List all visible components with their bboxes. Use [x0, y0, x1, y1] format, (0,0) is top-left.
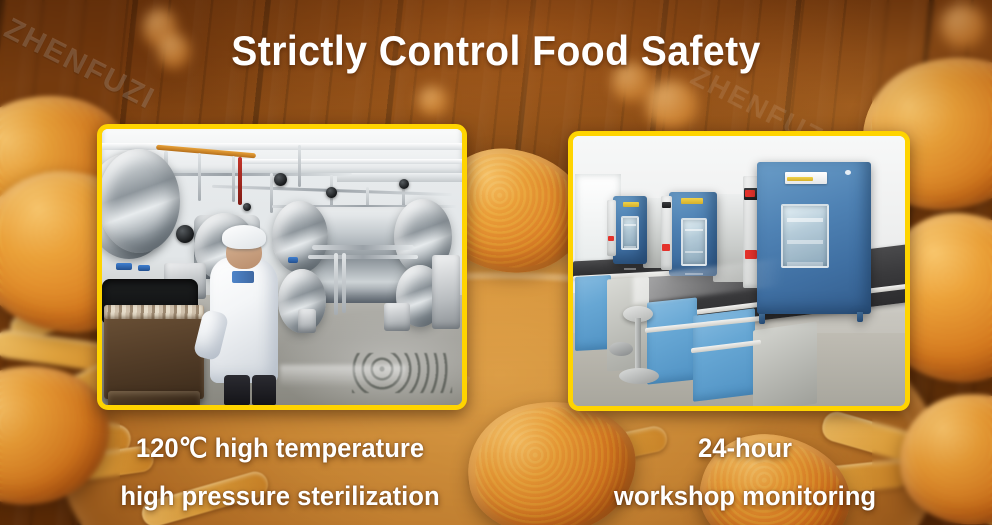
sterilization-photo-frame: [97, 124, 467, 410]
left-caption-line-1: 120℃ high temperature: [71, 424, 489, 472]
workshop-photo-frame: [568, 131, 910, 411]
right-caption-line-2: workshop monitoring: [588, 472, 902, 520]
right-caption-line-1: 24-hour: [588, 424, 902, 472]
high-temperature-sterilization-photo: [102, 129, 462, 405]
left-caption: 120℃ high temperature high pressure ster…: [71, 424, 489, 520]
food-safety-banner: ZHENFUZI ZHENFUZI ZHENFUZI Strictly Cont…: [0, 0, 992, 525]
right-caption: 24-hour workshop monitoring: [588, 424, 902, 520]
workshop-monitoring-photo: [573, 136, 905, 406]
banner-title: Strictly Control Food Safety: [35, 26, 958, 76]
left-caption-line-2: high pressure sterilization: [71, 472, 489, 520]
